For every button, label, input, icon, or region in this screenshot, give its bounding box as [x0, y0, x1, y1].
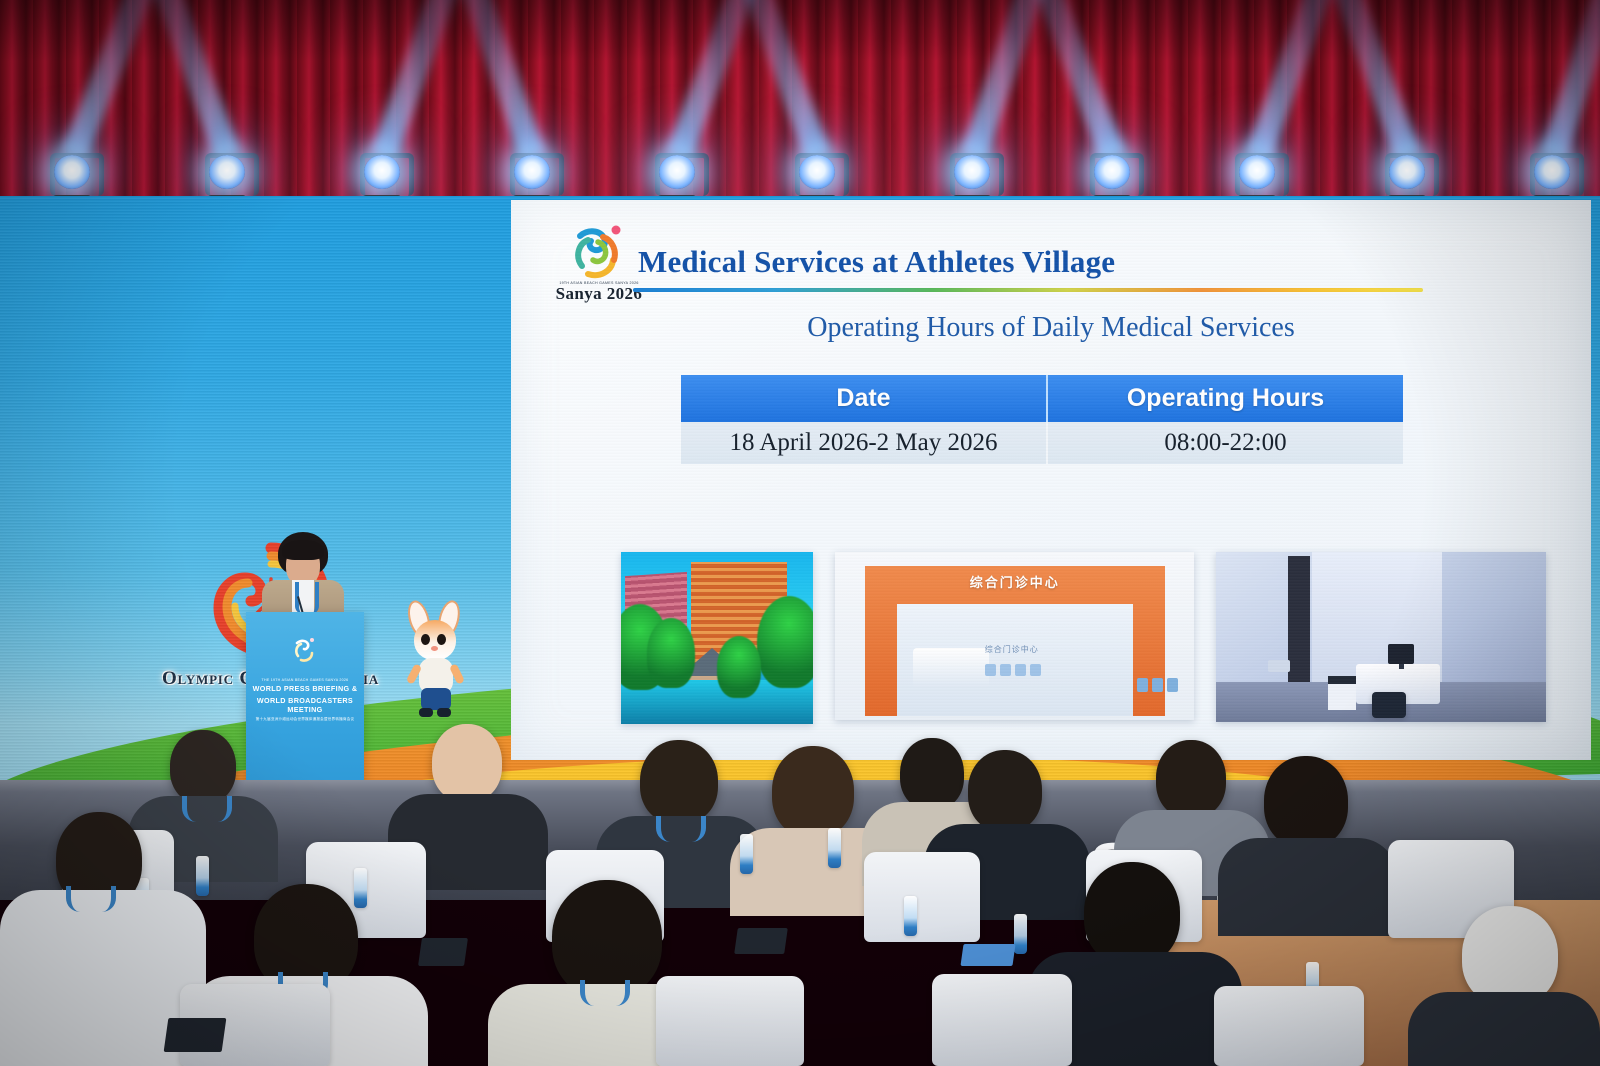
audience-head: [640, 740, 718, 824]
consultation-room-photo: [1216, 552, 1546, 722]
audience-shoulders: [1408, 992, 1600, 1066]
conference-chair: [932, 974, 1072, 1066]
audience-seating-area: [0, 700, 1600, 1066]
podium-sanya-emblem-icon: [292, 636, 318, 662]
audience-head: [968, 750, 1042, 832]
water-bottle: [828, 828, 841, 868]
water-bottle: [740, 834, 753, 874]
outpatient-center-entrance-photo: 综合门诊中心 综合门诊中心: [835, 552, 1195, 720]
presentation-slide: 19TH ASIAN BEACH GAMES SANYA 2026 Sanya …: [511, 200, 1591, 760]
water-bottle: [1014, 914, 1027, 954]
audience-head: [432, 724, 502, 802]
lanyard: [580, 980, 630, 1006]
sanya-2026-logo-block: 19TH ASIAN BEACH GAMES SANYA 2026 Sanya …: [551, 222, 647, 304]
conference-chair: [864, 852, 980, 942]
conference-chair: [1214, 986, 1364, 1066]
laptop: [164, 1018, 227, 1052]
podium-title-line1: WORLD PRESS BRIEFING &: [250, 684, 360, 694]
lanyard: [656, 816, 706, 842]
water-bottle: [196, 856, 209, 896]
red-stage-curtain: [0, 0, 1600, 205]
lanyard: [182, 796, 232, 822]
slide-title: Medical Services at Athletes Village: [638, 244, 1428, 280]
operating-hours-table: Date Operating Hours 18 April 2026-2 May…: [681, 375, 1403, 464]
table-header-hours: Operating Hours: [1048, 375, 1403, 422]
audience-head: [170, 730, 236, 804]
audience-shoulders: [1218, 838, 1398, 936]
slide-subtitle: Operating Hours of Daily Medical Service…: [511, 312, 1591, 344]
laptop: [734, 928, 788, 954]
sanya-logo-wordmark: Sanya 2026: [551, 284, 647, 304]
table-header-date: Date: [681, 375, 1048, 422]
conference-chair: [656, 976, 804, 1066]
laptop: [418, 938, 468, 966]
table-cell-date: 18 April 2026-2 May 2026: [681, 422, 1048, 464]
laptop: [960, 944, 1015, 966]
table-cell-hours: 08:00-22:00: [1048, 422, 1403, 464]
podium-supertext: THE 19TH ASIAN BEACH GAMES SANYA 2026: [250, 678, 360, 682]
athletes-village-resort-photo: [621, 552, 813, 724]
clinic-inner-sign-text: 综合门诊中心: [985, 644, 1039, 655]
water-bottle: [354, 868, 367, 908]
table-row: 18 April 2026-2 May 2026 08:00-22:00: [681, 422, 1403, 464]
audience-head: [1264, 756, 1348, 848]
sanya-2026-emblem-icon: [568, 222, 630, 280]
audience-head: [1156, 740, 1226, 818]
audience-head: [772, 746, 854, 838]
water-bottle: [904, 896, 917, 936]
lanyard: [66, 886, 116, 912]
audience-head: [1084, 862, 1180, 966]
audience-head: [1462, 906, 1558, 1006]
title-gradient-rule: [633, 288, 1423, 292]
clinic-entrance-sign-text: 综合门诊中心: [897, 572, 1133, 591]
table-header-row: Date Operating Hours: [681, 375, 1403, 422]
press-conference-scene: Olympic Council of Asia See you in Sanya…: [0, 0, 1600, 1066]
audience-head: [900, 738, 964, 810]
